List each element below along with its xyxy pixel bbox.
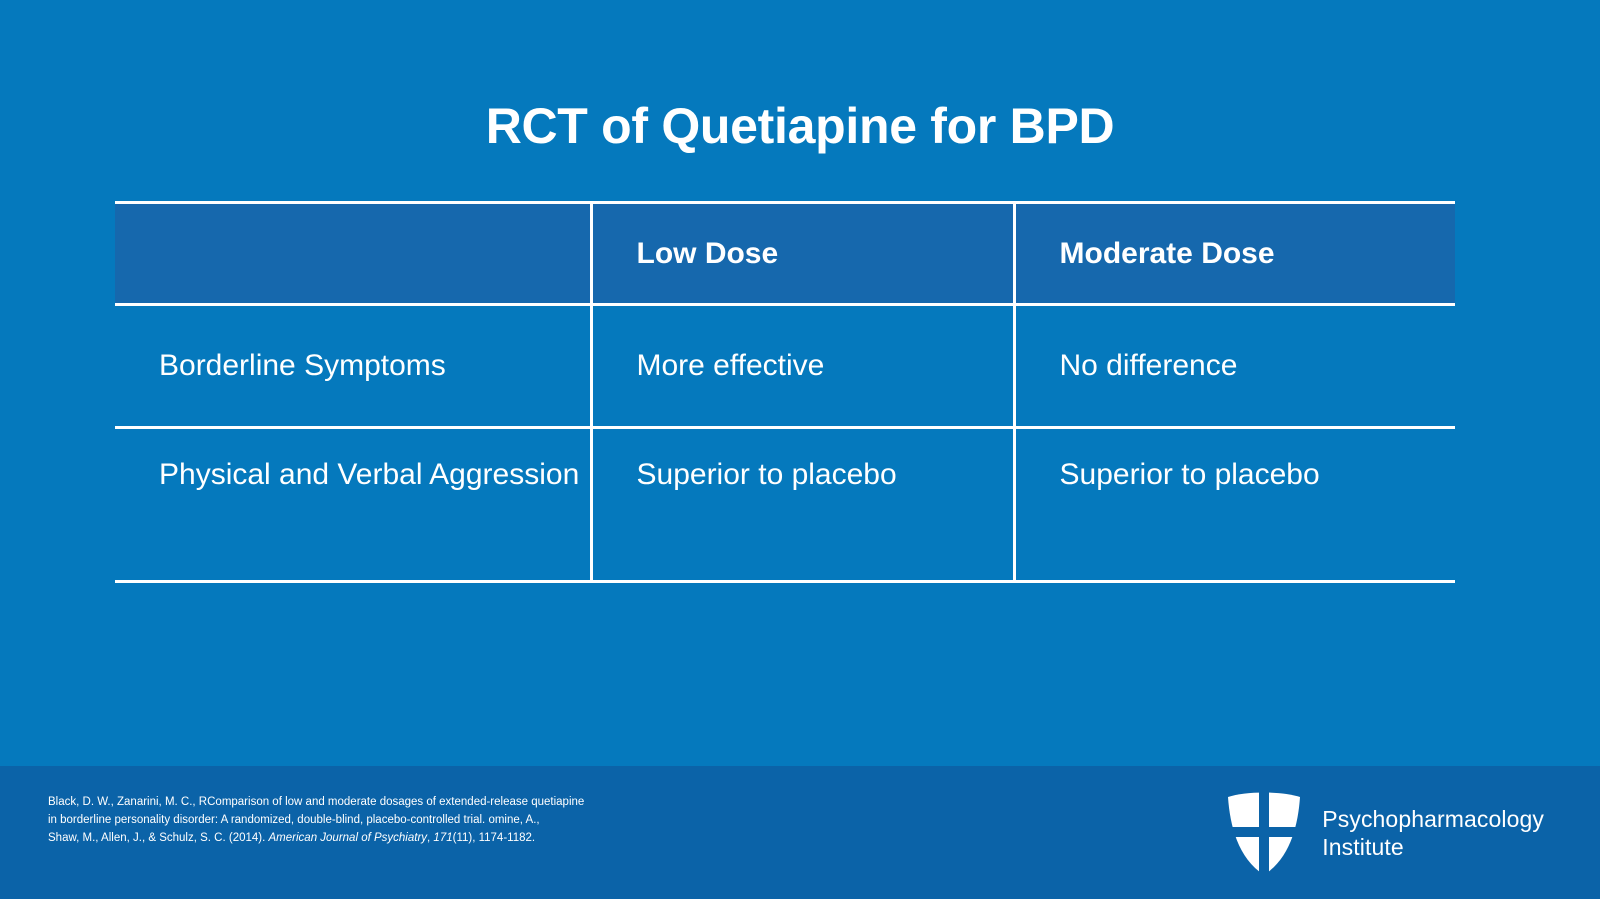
column-header-moderate-dose: Moderate Dose xyxy=(1014,203,1455,305)
cell-text: More effective xyxy=(637,346,1013,387)
brand-name-line-2: Institute xyxy=(1322,833,1544,861)
table-body: Borderline Symptoms More effective No di… xyxy=(115,305,1455,582)
shield-icon xyxy=(1226,790,1302,876)
row-label-borderline-symptoms: Borderline Symptoms xyxy=(115,305,591,428)
cell-aggression-moderate-dose: Superior to placebo xyxy=(1014,428,1455,582)
citation-line-3: Shaw, M., Allen, J., & Schulz, S. C. (20… xyxy=(48,829,808,847)
citation-line-2-text: in borderline personality disorder: A ra… xyxy=(48,814,540,826)
citation-volume: 171 xyxy=(433,832,452,844)
table-row: Physical and Verbal Aggression Superior … xyxy=(115,428,1455,582)
footer-band: Black, D. W., Zanarini, M. C., RComparis… xyxy=(0,766,1600,899)
cell-borderline-moderate-dose: No difference xyxy=(1014,305,1455,428)
column-header-low-dose: Low Dose xyxy=(591,203,1014,305)
column-header-measure xyxy=(115,203,591,305)
citation-line-1: Black, D. W., Zanarini, M. C., RComparis… xyxy=(48,793,808,811)
table-header-row: Low Dose Moderate Dose xyxy=(115,203,1455,305)
cell-text: Superior to placebo xyxy=(637,455,1013,496)
citation-authors-year: Shaw, M., Allen, J., & Schulz, S. C. (20… xyxy=(48,832,269,844)
cell-text: Borderline Symptoms xyxy=(159,346,590,387)
brand-name-line-1: Psychopharmacology xyxy=(1322,805,1544,833)
results-table: Low Dose Moderate Dose Borderline Sympto… xyxy=(115,201,1455,583)
citation-issue-pages: (11), 1174-1182. xyxy=(453,832,535,844)
cell-text: No difference xyxy=(1060,346,1456,387)
cell-text: Superior to placebo xyxy=(1060,455,1456,496)
page-title: RCT of Quetiapine for BPD xyxy=(0,98,1600,156)
slide-canvas: RCT of Quetiapine for BPD Low Dose Moder… xyxy=(0,0,1600,899)
cell-text: Physical and Verbal Aggression xyxy=(159,455,590,496)
citation-reference: Black, D. W., Zanarini, M. C., RComparis… xyxy=(48,793,808,847)
citation-journal-title: American Journal of Psychiatry xyxy=(269,832,428,844)
brand-logo: Psychopharmacology Institute xyxy=(1226,790,1544,876)
citation-line-2: in borderline personality disorder: A ra… xyxy=(48,811,808,829)
row-label-aggression: Physical and Verbal Aggression xyxy=(115,428,591,582)
cell-aggression-low-dose: Superior to placebo xyxy=(591,428,1014,582)
table-header: Low Dose Moderate Dose xyxy=(115,203,1455,305)
table-row: Borderline Symptoms More effective No di… xyxy=(115,305,1455,428)
results-table-container: Low Dose Moderate Dose Borderline Sympto… xyxy=(115,201,1455,583)
brand-name: Psychopharmacology Institute xyxy=(1322,805,1544,861)
cell-borderline-low-dose: More effective xyxy=(591,305,1014,428)
